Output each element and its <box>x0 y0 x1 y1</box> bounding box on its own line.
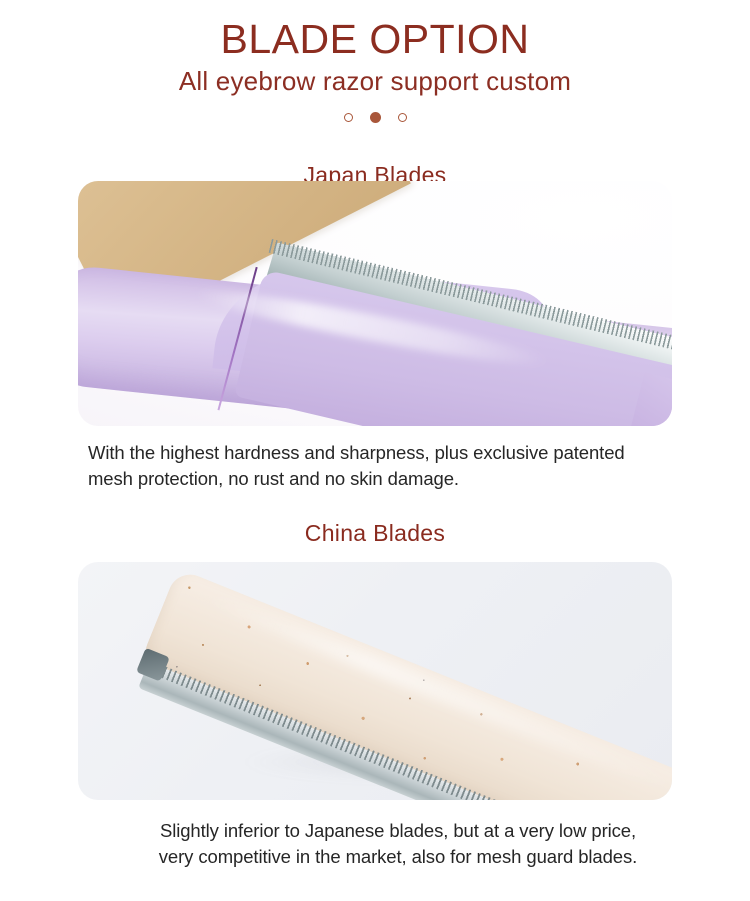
lavender-razor <box>78 240 672 426</box>
description-china: Slightly inferior to Japanese blades, bu… <box>88 818 708 871</box>
speckled-razor <box>122 568 672 800</box>
page-subtitle: All eyebrow razor support custom <box>0 67 750 97</box>
description-china-line-2: very competitive in the market, also for… <box>88 844 708 870</box>
product-photo-china-blade <box>78 562 672 800</box>
carousel-dot-3[interactable] <box>398 113 407 122</box>
description-china-line-1: Slightly inferior to Japanese blades, bu… <box>88 818 708 844</box>
carousel-dot-2-active[interactable] <box>370 112 381 123</box>
description-japan-line-1: With the highest hardness and sharpness,… <box>88 440 708 466</box>
description-japan-line-2: mesh protection, no rust and no skin dam… <box>88 466 708 492</box>
product-detail-page: BLADE OPTION All eyebrow razor support c… <box>0 0 750 901</box>
description-japan: With the highest hardness and sharpness,… <box>88 440 708 493</box>
carousel-dots[interactable] <box>0 111 750 125</box>
section-heading-china: China Blades <box>0 520 750 547</box>
china-section-header: China Blades <box>0 520 750 547</box>
product-photo-japan-blade <box>78 181 672 426</box>
carousel-dot-1[interactable] <box>344 113 353 122</box>
page-title: BLADE OPTION <box>0 18 750 61</box>
page-header: BLADE OPTION All eyebrow razor support c… <box>0 0 750 125</box>
